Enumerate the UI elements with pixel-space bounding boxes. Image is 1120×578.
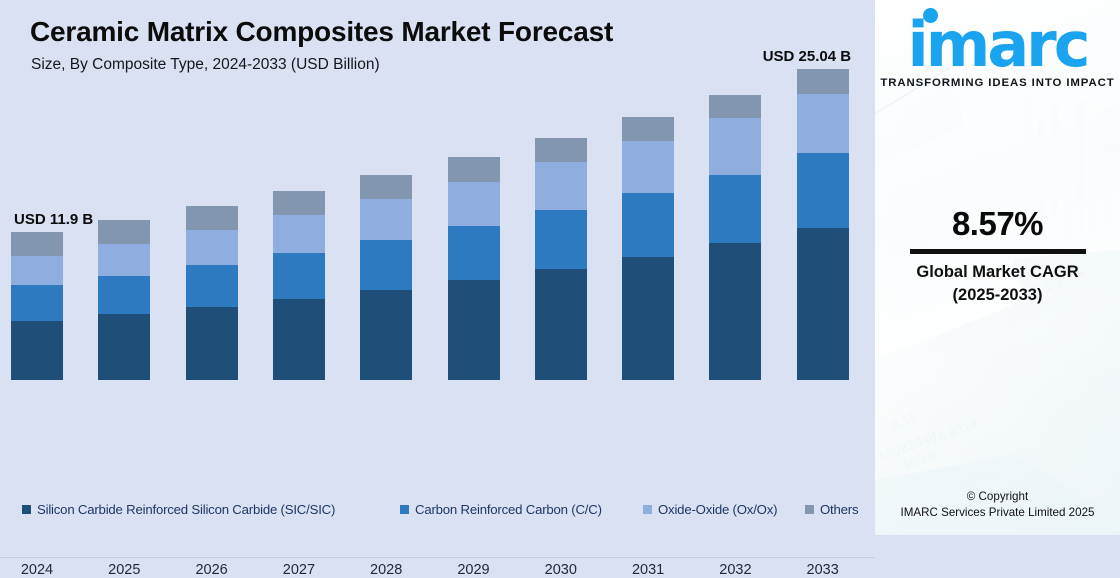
bar-segment[interactable] [797, 69, 849, 94]
logo-wordmark-wrap: imarc [907, 14, 1087, 76]
bar-segment[interactable] [11, 256, 63, 286]
bar-segment[interactable] [448, 280, 500, 380]
bar-segment[interactable] [535, 162, 587, 210]
logo-wordmark: imarc [907, 14, 1087, 76]
bar-segment[interactable] [622, 193, 674, 256]
bar-stack[interactable] [360, 175, 412, 380]
bar-segment[interactable] [709, 175, 761, 243]
value-callout-label: USD 11.9 B [14, 211, 93, 228]
bar-segment[interactable] [622, 257, 674, 380]
x-axis-label: 2029 [434, 562, 514, 578]
bar-segment[interactable] [535, 269, 587, 380]
bar-segment[interactable] [622, 117, 674, 141]
cagr-label: Global Market CAGR [875, 261, 1120, 284]
chart-page: Ceramic Matrix Composites Market Forecas… [0, 0, 1120, 535]
copyright-notice: © Copyright IMARC Services Private Limit… [875, 489, 1120, 521]
x-axis-label: 2030 [521, 562, 601, 578]
bar-stack[interactable] [797, 69, 849, 380]
bar-segment[interactable] [273, 299, 325, 380]
bar-stack[interactable] [273, 191, 325, 380]
bar-segment[interactable] [11, 285, 63, 321]
bar-segment[interactable] [797, 94, 849, 153]
copyright-line-2: IMARC Services Private Limited 2025 [875, 505, 1120, 521]
bar-segment[interactable] [360, 175, 412, 200]
bar-segment[interactable] [273, 253, 325, 298]
legend-label: Carbon Reinforced Carbon (C/C) [415, 502, 602, 517]
page-title: Ceramic Matrix Composites Market Forecas… [30, 16, 613, 48]
bar-segment[interactable] [448, 182, 500, 227]
x-axis-label: 2024 [0, 562, 77, 578]
bar-segment[interactable] [622, 141, 674, 194]
legend-swatch-icon [22, 505, 31, 514]
legend-label: Oxide-Oxide (Ox/Ox) [658, 502, 777, 517]
bar-segment[interactable] [535, 210, 587, 268]
bar-segment[interactable] [709, 243, 761, 380]
bar-segment[interactable] [186, 265, 238, 307]
x-axis-label: 2026 [172, 562, 252, 578]
x-axis-label: 2025 [84, 562, 164, 578]
bar-segment[interactable] [186, 206, 238, 230]
bar-segment[interactable] [797, 228, 849, 380]
bar-segment[interactable] [273, 191, 325, 215]
legend-swatch-icon [643, 505, 652, 514]
copyright-line-1: © Copyright [875, 489, 1120, 505]
legend-label: Others [820, 502, 858, 517]
chart-legend: Silicon Carbide Reinforced Silicon Carbi… [0, 497, 875, 521]
bar-segment[interactable] [98, 244, 150, 276]
legend-item[interactable]: Silicon Carbide Reinforced Silicon Carbi… [22, 502, 335, 517]
legend-swatch-icon [400, 505, 409, 514]
plot-area: 2024202520262027202820292030203120322033… [0, 100, 875, 458]
bar-segment[interactable] [448, 157, 500, 181]
bar-segment[interactable] [360, 199, 412, 240]
bar-segment[interactable] [360, 290, 412, 380]
x-axis-label: 2031 [608, 562, 688, 578]
x-axis-line [0, 557, 875, 558]
chart-panel: Ceramic Matrix Composites Market Forecas… [0, 0, 875, 535]
bar-stack[interactable] [535, 138, 587, 380]
bar-segment[interactable] [11, 232, 63, 256]
bar-segment[interactable] [273, 215, 325, 253]
legend-item[interactable]: Oxide-Oxide (Ox/Ox) [643, 502, 777, 517]
bar-segment[interactable] [535, 138, 587, 162]
bar-segment[interactable] [709, 118, 761, 175]
value-callout-label: USD 25.04 B [763, 48, 851, 65]
bar-segment[interactable] [98, 220, 150, 244]
bar-segment[interactable] [797, 153, 849, 228]
x-axis-label: 2028 [346, 562, 426, 578]
x-axis-label: 2033 [783, 562, 863, 578]
bar-segment[interactable] [11, 321, 63, 380]
bar-segment[interactable] [98, 314, 150, 380]
legend-label: Silicon Carbide Reinforced Silicon Carbi… [37, 502, 335, 517]
bar-stack[interactable] [186, 206, 238, 380]
cagr-divider [910, 249, 1086, 254]
bar-stack[interactable] [11, 232, 63, 380]
legend-item[interactable]: Carbon Reinforced Carbon (C/C) [400, 502, 602, 517]
bar-stack[interactable] [622, 117, 674, 380]
bar-segment[interactable] [448, 226, 500, 280]
x-axis-label: 2032 [695, 562, 775, 578]
bar-stack[interactable] [448, 157, 500, 380]
cagr-value: 8.57% [875, 205, 1120, 243]
bar-segment[interactable] [709, 95, 761, 118]
x-axis-label: 2027 [259, 562, 339, 578]
bar-segment[interactable] [186, 307, 238, 380]
legend-swatch-icon [805, 505, 814, 514]
cagr-block: 8.57% Global Market CAGR (2025-2033) [875, 205, 1120, 307]
page-subtitle: Size, By Composite Type, 2024-2033 (USD … [31, 56, 380, 74]
brand-panel: 0.15 78.9314 500.0 12768 65982048 0.0 1 … [875, 0, 1120, 535]
bar-segment[interactable] [98, 276, 150, 315]
bar-segment[interactable] [186, 230, 238, 265]
legend-item[interactable]: Others [805, 502, 858, 517]
imarc-logo: imarc TRANSFORMING IDEAS INTO IMPACT [875, 14, 1120, 89]
bar-segment[interactable] [360, 240, 412, 289]
bar-stack[interactable] [709, 95, 761, 380]
cagr-period: (2025-2033) [875, 284, 1120, 307]
bar-stack[interactable] [98, 220, 150, 380]
